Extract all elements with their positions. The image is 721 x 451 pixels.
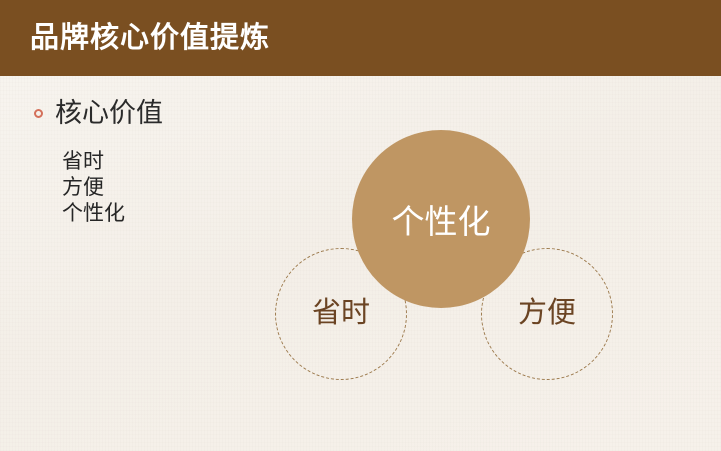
list-item: 个性化 xyxy=(62,200,125,226)
venn-circle-label: 方便 xyxy=(518,296,576,330)
core-value-list: 省时 方便 个性化 xyxy=(62,148,125,226)
hollow-circle-bullet-icon xyxy=(34,109,43,118)
slide-header-bar: 品牌核心价值提炼 xyxy=(0,0,721,76)
core-value-heading: 核心价值 xyxy=(55,96,163,130)
list-item: 省时 xyxy=(62,148,125,174)
slide-canvas: 品牌核心价值提炼 核心价值 省时 方便 个性化 省时 方便 个性化 xyxy=(0,0,721,451)
venn-circle-gexinghua: 个性化 xyxy=(352,130,530,308)
venn-circle-label: 省时 xyxy=(312,296,370,330)
page-title: 品牌核心价值提炼 xyxy=(30,18,270,58)
list-item: 方便 xyxy=(62,174,125,200)
core-value-bullet-row: 核心价值 xyxy=(34,96,163,130)
venn-circle-label: 个性化 xyxy=(392,204,491,242)
